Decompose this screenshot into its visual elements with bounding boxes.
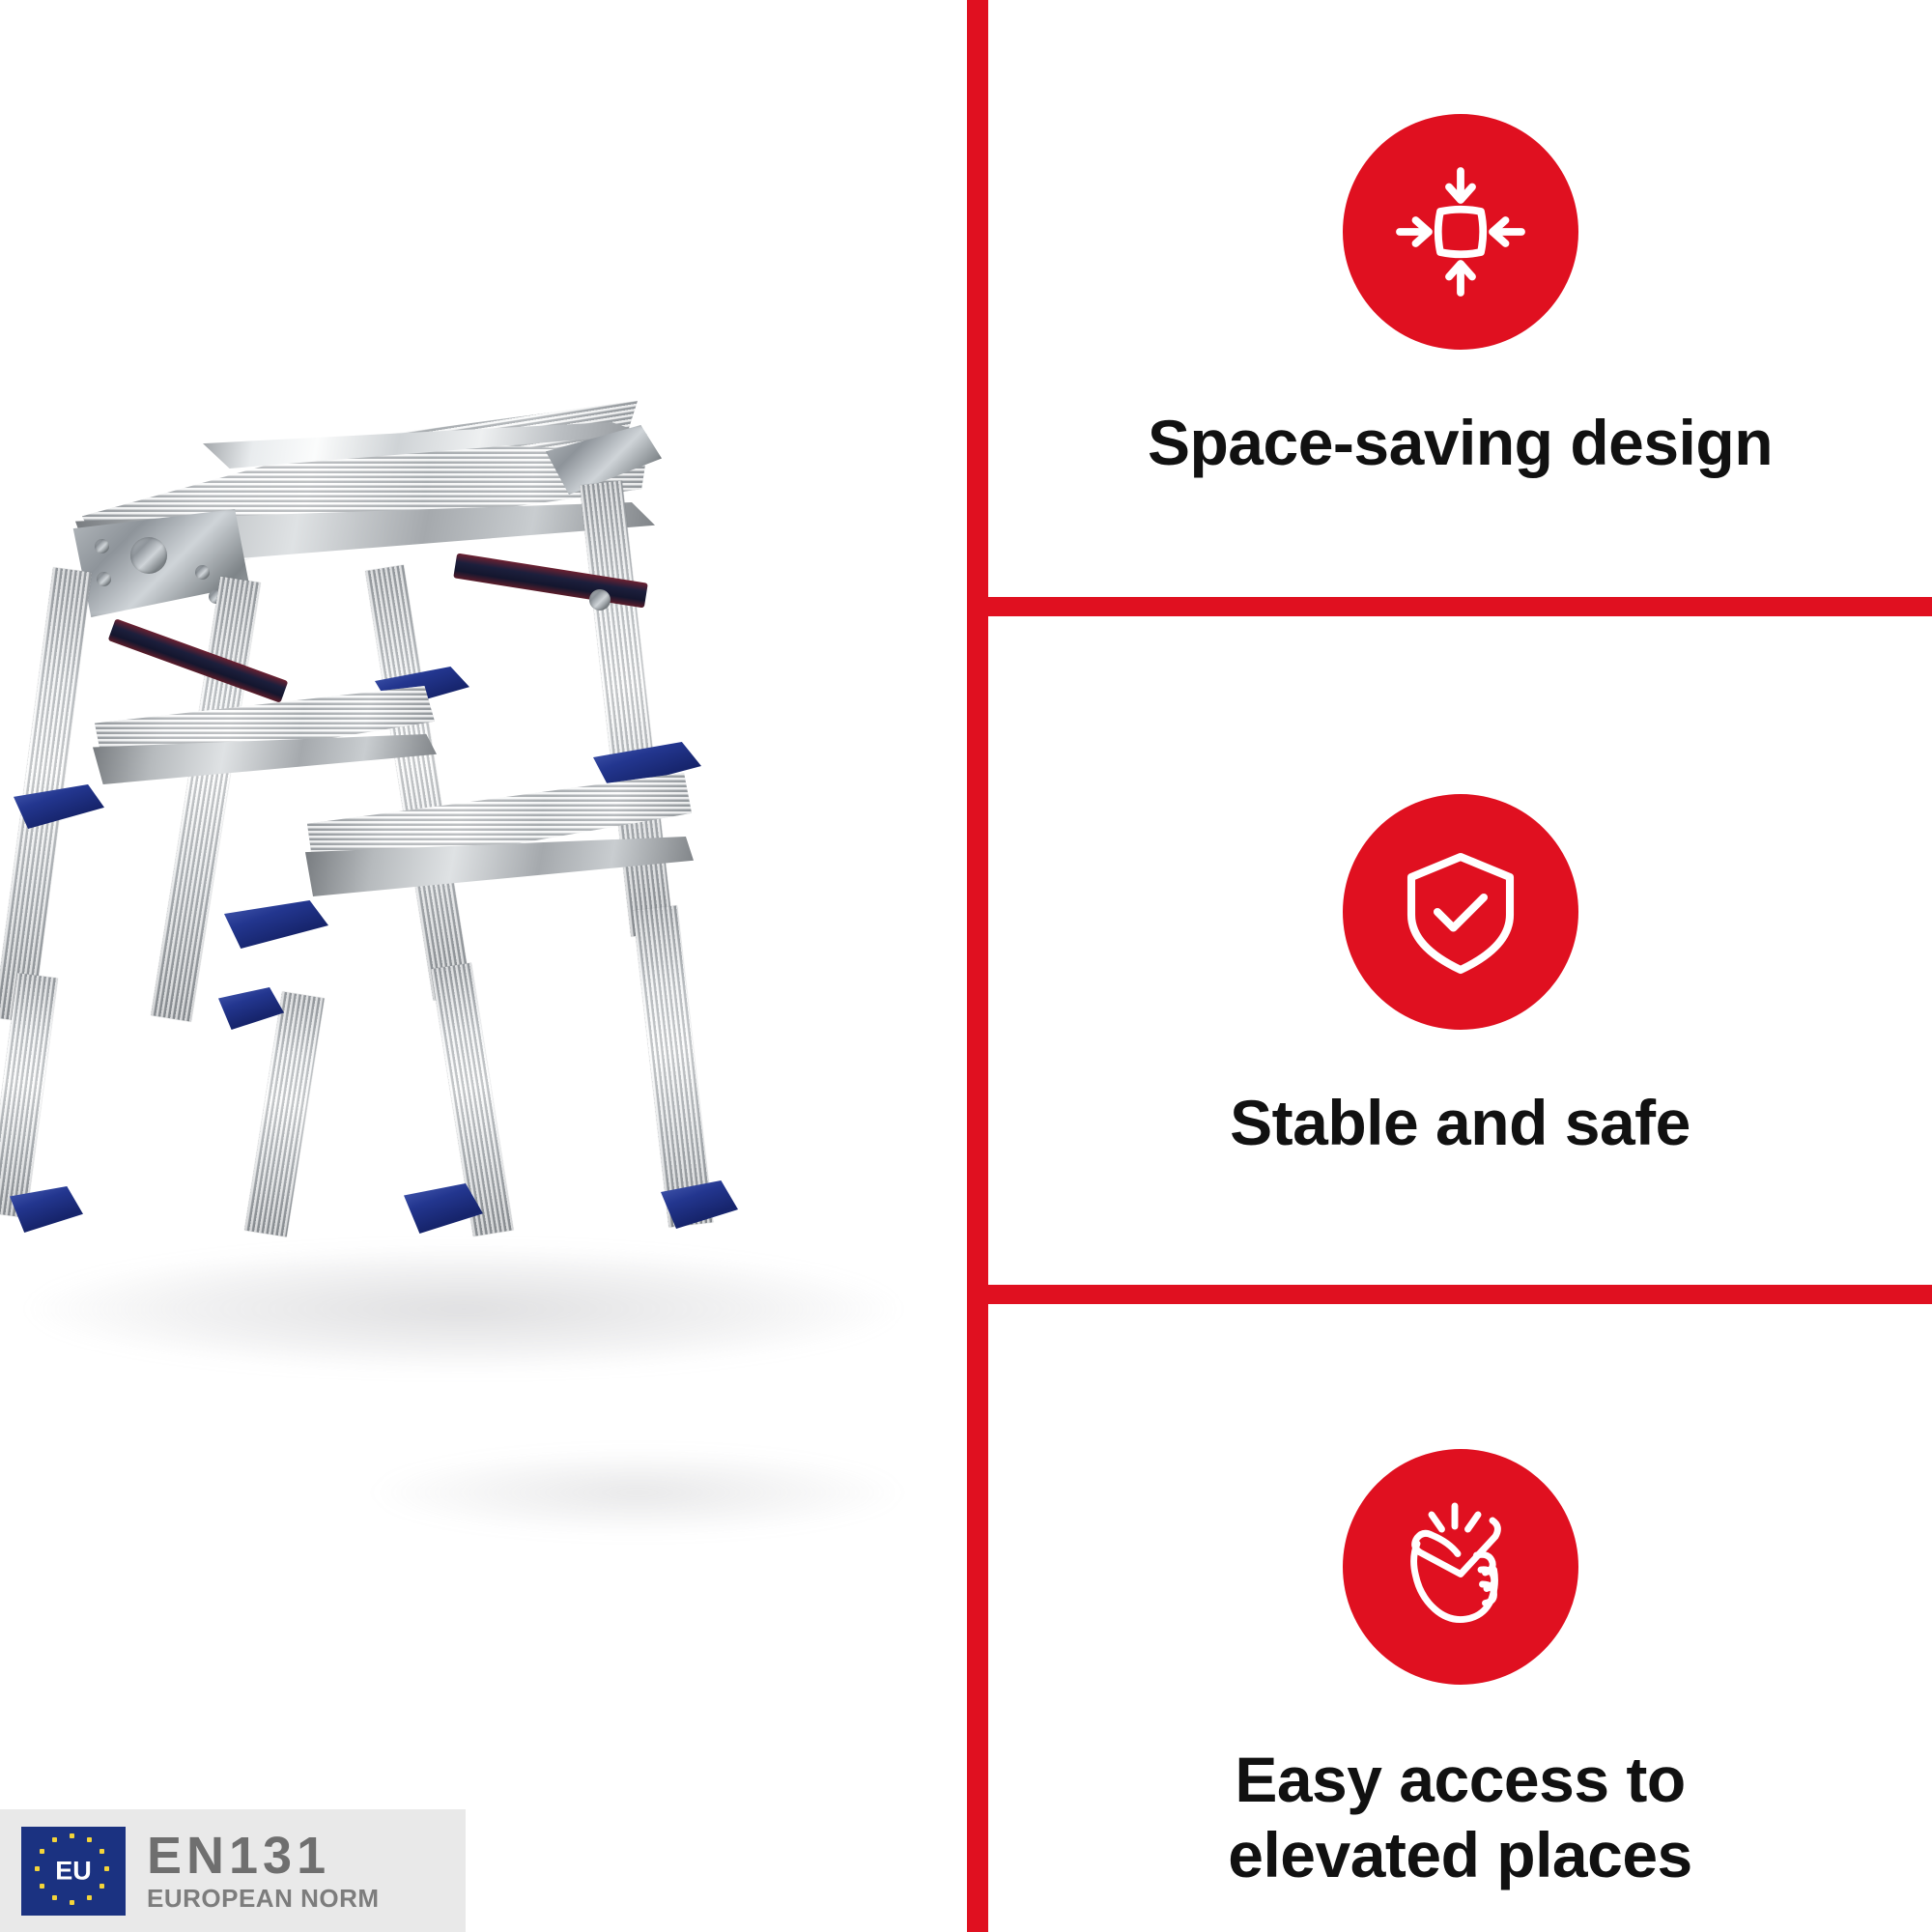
- compress-arrows-square-icon: [1343, 114, 1578, 350]
- lower-step-bracket-left: [224, 900, 328, 949]
- safety-strap-left: [108, 618, 289, 703]
- product-infographic: EU EN131 EUROPEAN NORM: [0, 0, 1932, 1932]
- hinge-pivot-left: [130, 537, 167, 574]
- shield-check-icon: [1343, 794, 1578, 1030]
- feature-item-space-saving: Space-saving design: [988, 114, 1932, 481]
- en131-title: EN131: [147, 1830, 380, 1883]
- right-frame-rail-back-lower: [633, 905, 713, 1227]
- feature-item-stable-safe: Stable and safe: [988, 794, 1932, 1161]
- en131-certification-badge: EU EN131 EUROPEAN NORM: [0, 1809, 466, 1932]
- hinge-rivet-left-a: [95, 539, 109, 554]
- feature-label-space-saving: Space-saving design: [1148, 406, 1773, 481]
- eu-flag-label: EU: [21, 1858, 126, 1884]
- feature-list: Space-saving design Stable and safe: [988, 0, 1932, 1932]
- step-stool-illustration: [0, 0, 967, 1932]
- en131-text-block: EN131 EUROPEAN NORM: [147, 1830, 380, 1913]
- en131-subtitle: EUROPEAN NORM: [147, 1885, 380, 1913]
- vertical-divider: [967, 0, 988, 1932]
- left-frame-rail-back-lower: [244, 992, 325, 1237]
- hinge-rivet-left-b: [97, 572, 111, 586]
- right-frame-rail-front: [365, 565, 471, 1001]
- tap-hand-icon: [1343, 1449, 1578, 1685]
- feature-label-stable-safe: Stable and safe: [1230, 1086, 1690, 1161]
- strap-anchor-screw: [589, 589, 611, 611]
- feature-label-easy-access: Easy access to elevated places: [1228, 1743, 1691, 1893]
- hinge-rivet-left-c: [195, 565, 210, 580]
- feature-item-easy-access: Easy access to elevated places: [988, 1449, 1932, 1893]
- foot-back-left: [218, 987, 284, 1030]
- eu-flag-icon: EU: [21, 1827, 126, 1916]
- product-image-panel: EU EN131 EUROPEAN NORM: [0, 0, 967, 1932]
